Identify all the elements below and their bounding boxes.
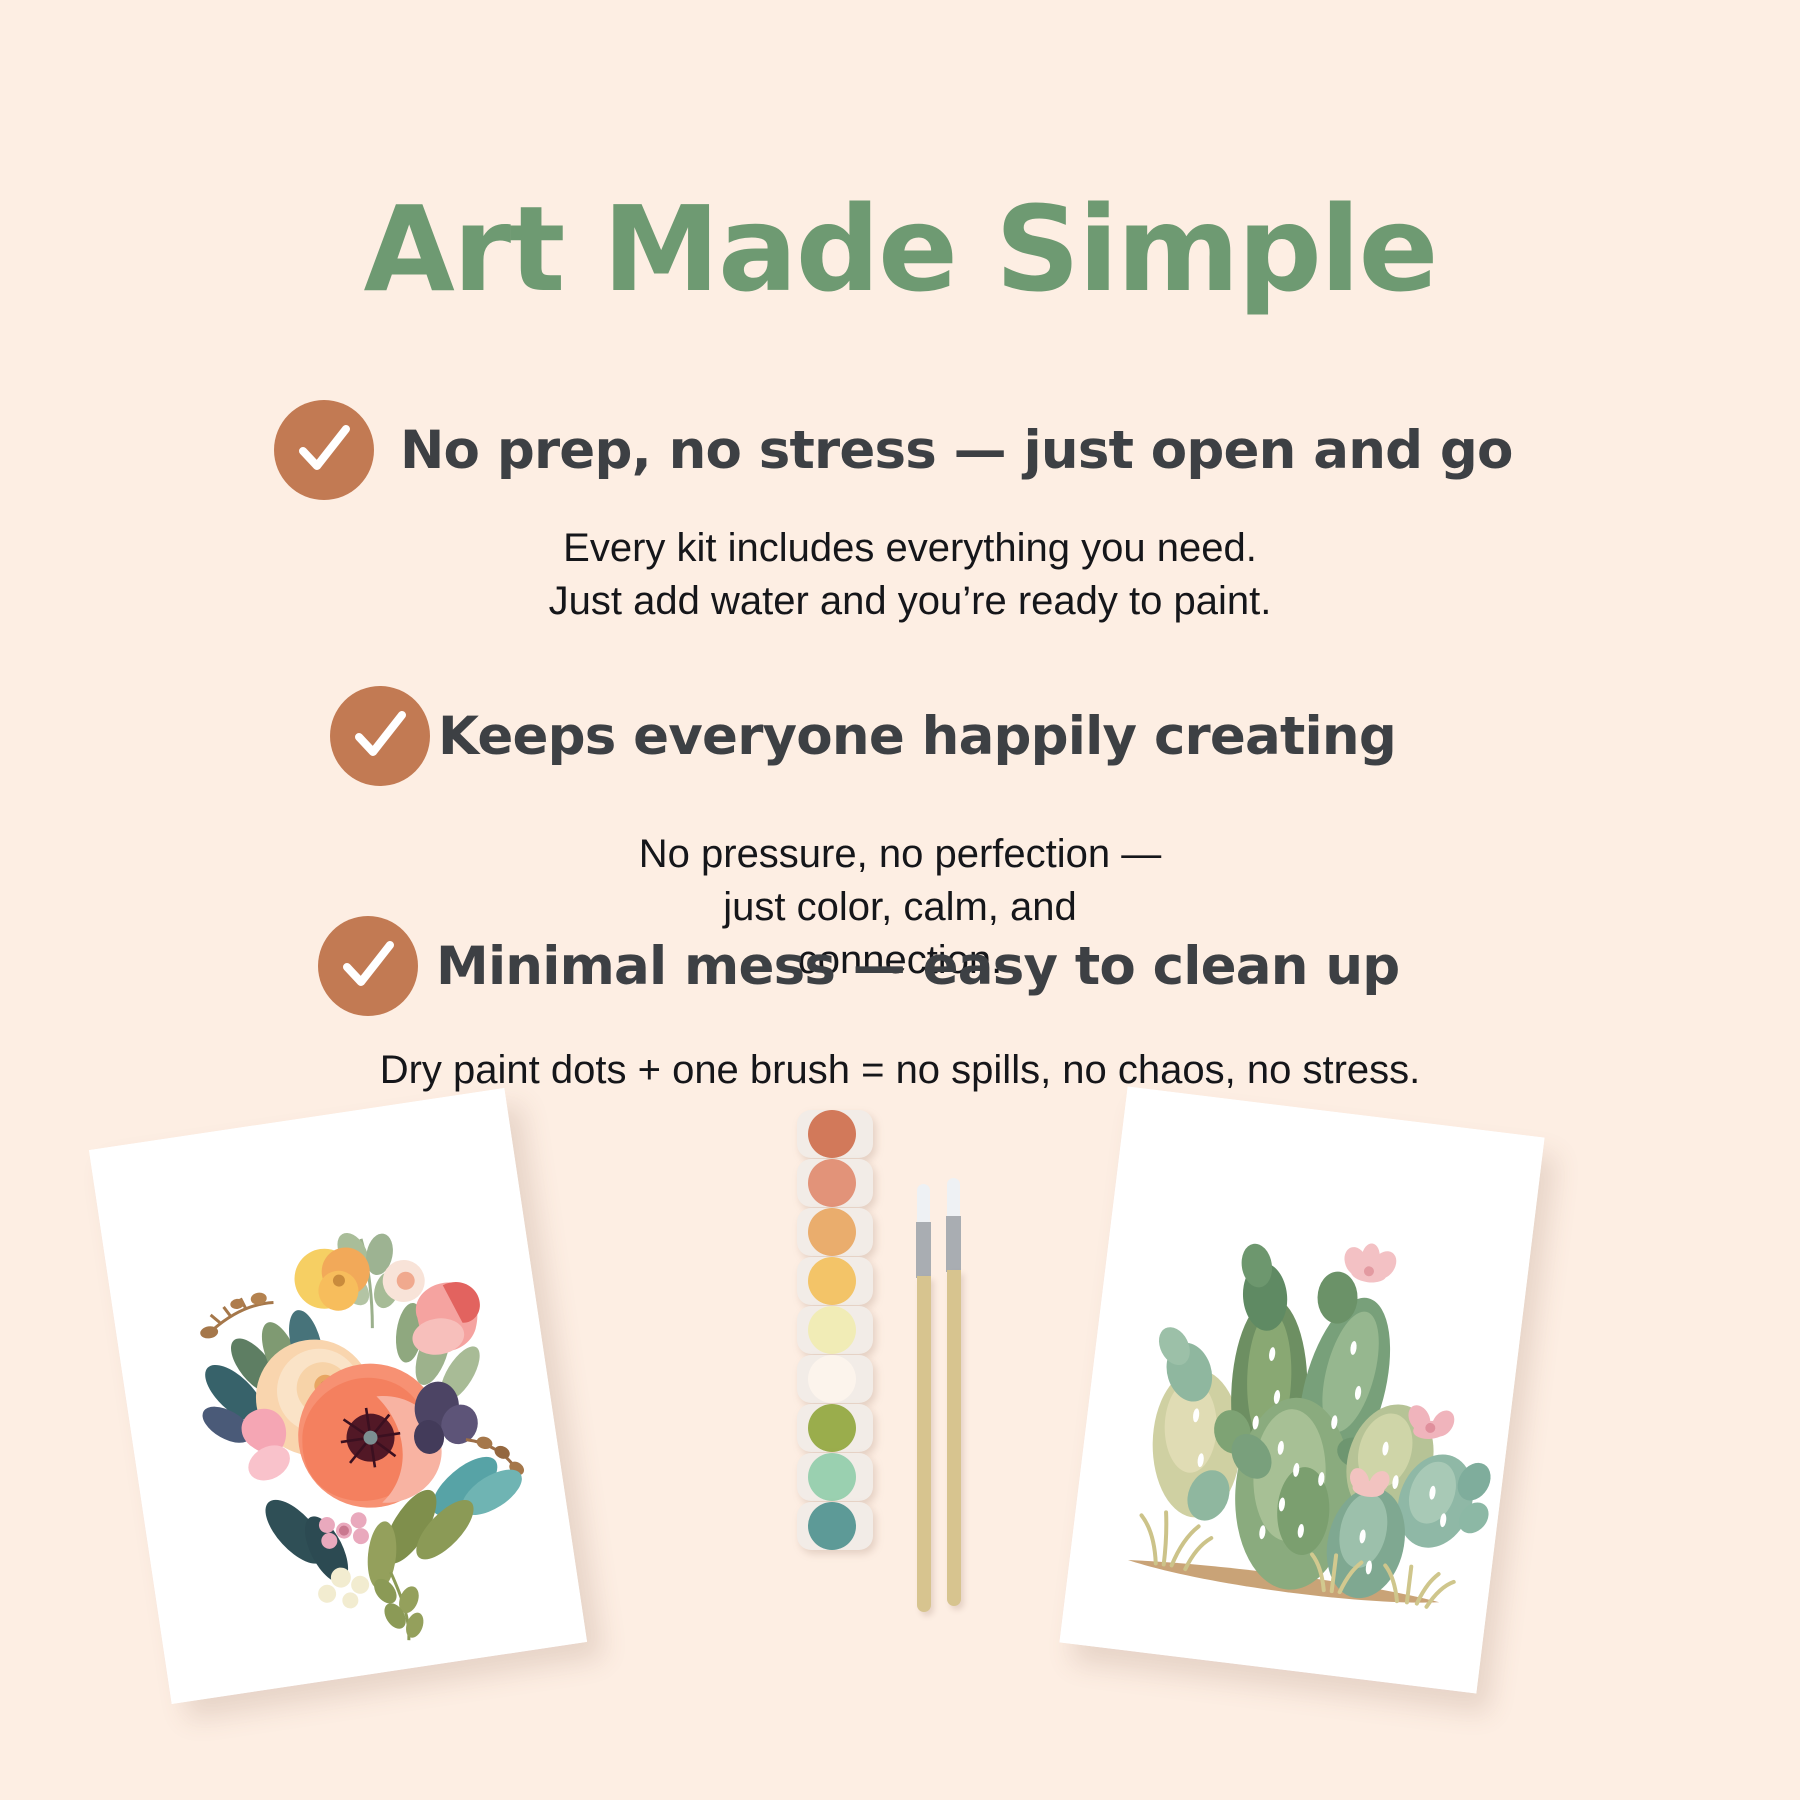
paint-dot-off-white xyxy=(808,1355,856,1403)
feature-heading-row: Minimal mess — easy to clean up xyxy=(0,916,1800,1016)
paint-dot-apricot xyxy=(808,1208,856,1256)
floral-artwork-card xyxy=(89,1088,587,1704)
poster-root: Art Made Simple No prep, no stress — jus… xyxy=(0,0,1800,1800)
feature-body-line: Just add water and you’re ready to paint… xyxy=(20,575,1800,628)
paint-brush xyxy=(946,1178,961,1608)
paint-dot xyxy=(795,1353,875,1405)
product-scene xyxy=(0,1060,1800,1800)
paint-dot-salmon xyxy=(808,1159,856,1207)
brush-ferrule xyxy=(946,1216,961,1272)
feature-title: Keeps everyone happily creating xyxy=(438,706,1396,767)
check-circle-icon xyxy=(274,400,374,500)
cactus-artwork-card xyxy=(1059,1086,1544,1693)
paint-dot-pale-cream-yellow xyxy=(808,1306,856,1354)
paint-dot xyxy=(795,1402,875,1454)
brush-handle xyxy=(917,1276,931,1612)
paint-dot-terracotta xyxy=(808,1110,856,1158)
feature-heading-row: No prep, no stress — just open and go xyxy=(0,400,1800,500)
brush-tip xyxy=(947,1178,960,1218)
feature-heading-row: Keeps everyone happily creating xyxy=(0,686,1800,786)
check-circle-icon xyxy=(318,916,418,1016)
paint-dot xyxy=(795,1500,875,1552)
paint-dot xyxy=(795,1451,875,1503)
feature-title: No prep, no stress — just open and go xyxy=(400,420,1513,481)
paint-dot-strip xyxy=(795,1108,875,1549)
feature-item: No prep, no stress — just open and go Ev… xyxy=(0,400,1800,628)
feature-body-line: No pressure, no perfection — xyxy=(0,828,1800,881)
paint-brush xyxy=(916,1184,931,1614)
feature-body-line: Every kit includes everything you need. xyxy=(20,522,1800,575)
paint-brushes xyxy=(916,1178,1036,1628)
paint-dot xyxy=(795,1108,875,1160)
paint-dot xyxy=(795,1255,875,1307)
paint-dot-mint-green xyxy=(808,1453,856,1501)
check-circle-icon xyxy=(330,686,430,786)
paint-dot xyxy=(795,1157,875,1209)
feature-title: Minimal mess — easy to clean up xyxy=(436,936,1399,997)
page-title: Art Made Simple xyxy=(0,186,1800,313)
paint-dot xyxy=(795,1206,875,1258)
paint-dot xyxy=(795,1304,875,1356)
paint-dot-teal xyxy=(808,1502,856,1550)
brush-handle xyxy=(947,1270,961,1606)
brush-ferrule xyxy=(916,1222,931,1278)
feature-body: Every kit includes everything you need. … xyxy=(0,522,1800,628)
brush-tip xyxy=(917,1184,930,1224)
paint-dot-olive-green xyxy=(808,1404,856,1452)
paint-dot-golden-yellow xyxy=(808,1257,856,1305)
